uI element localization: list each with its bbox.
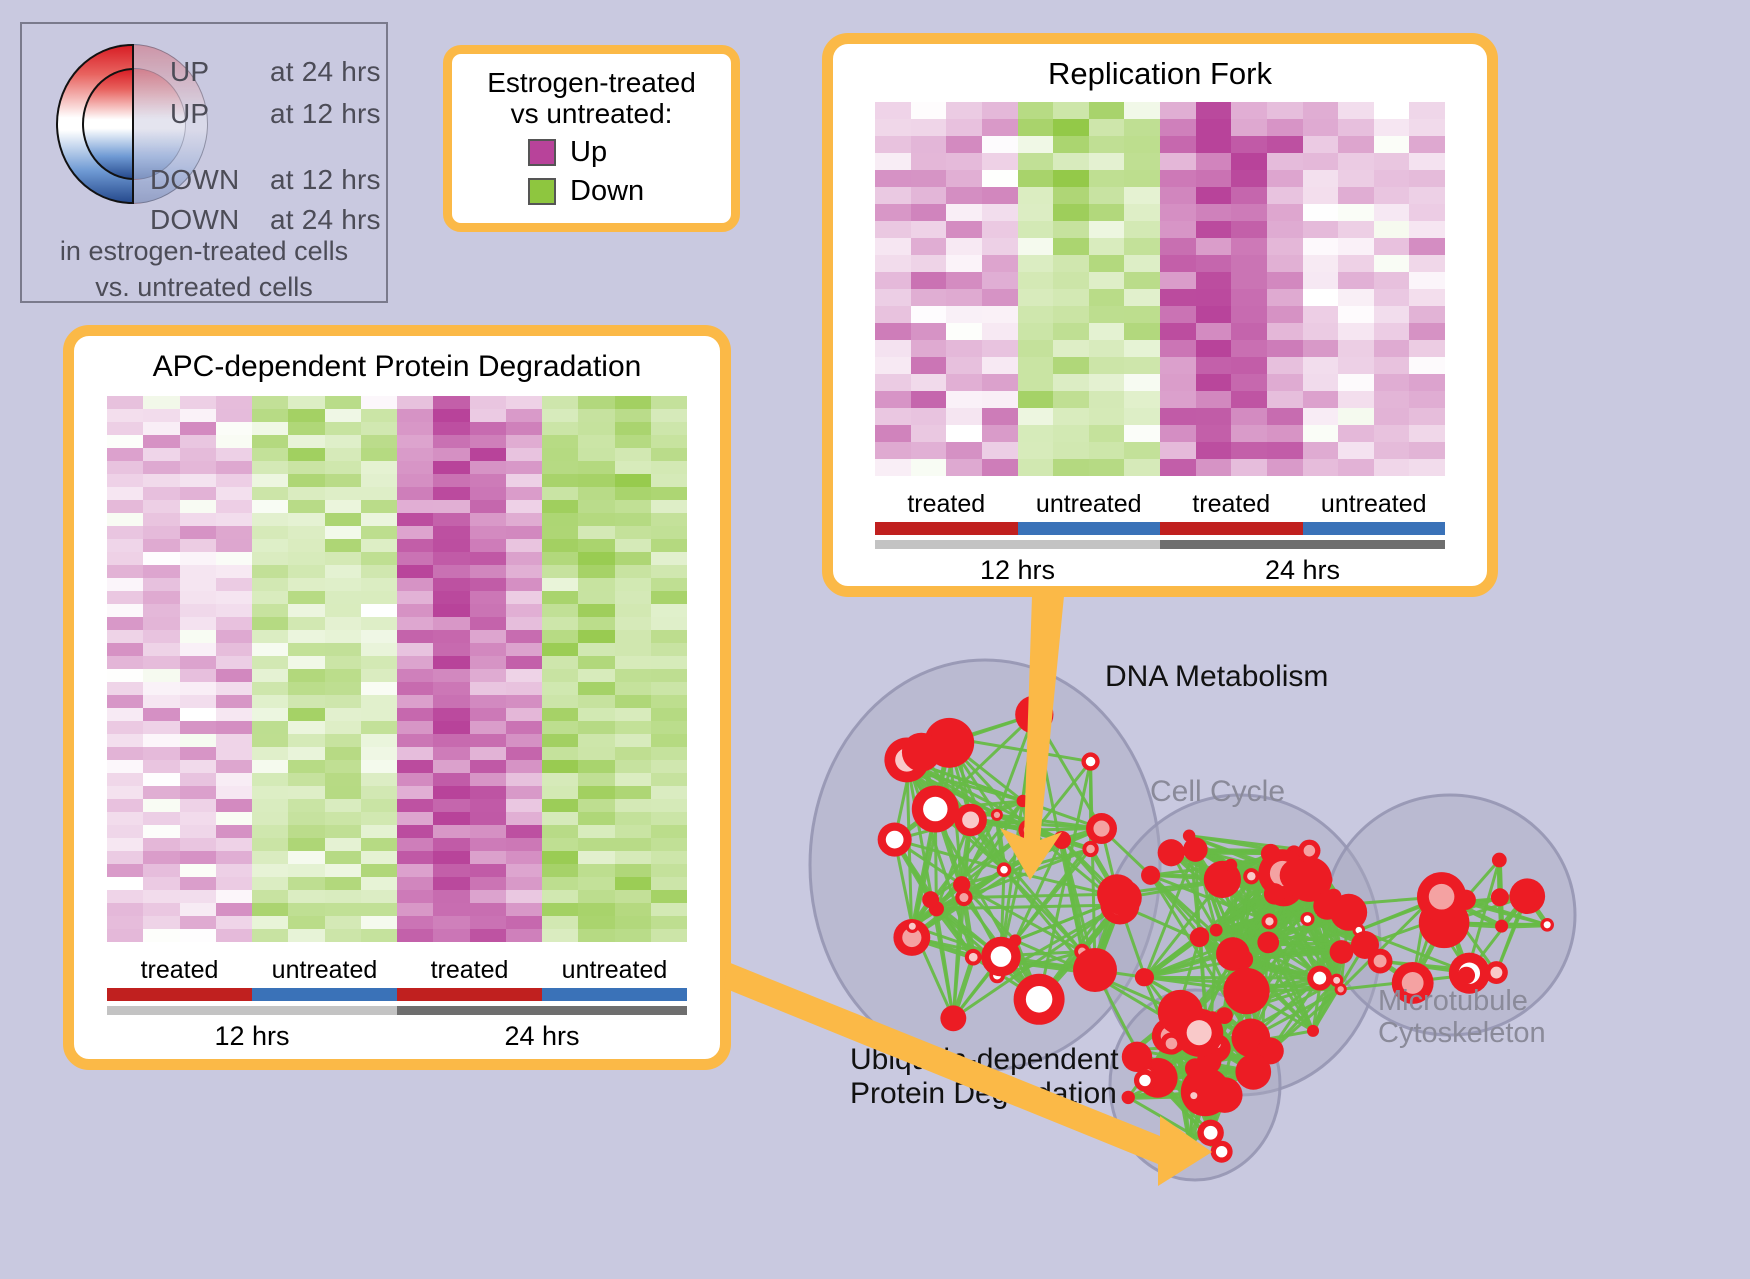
network-node[interactable] xyxy=(878,823,912,857)
network-node[interactable] xyxy=(940,1005,966,1031)
network-node[interactable] xyxy=(1417,872,1466,921)
network-node[interactable] xyxy=(1243,868,1259,884)
heatmap-cell xyxy=(397,617,433,630)
heatmap-cell xyxy=(433,825,469,838)
heatmap-cell xyxy=(107,513,143,526)
heatmap-cell xyxy=(911,289,947,306)
heatmap-cell xyxy=(433,851,469,864)
heatmap-cell xyxy=(288,721,324,734)
heatmap-cell xyxy=(1374,221,1410,238)
heatmap-cell xyxy=(1338,289,1374,306)
heatmap-cell xyxy=(397,552,433,565)
heatmap-cell xyxy=(542,838,578,851)
heatmap-cell xyxy=(1303,187,1339,204)
heatmap-cell xyxy=(143,747,179,760)
network-node[interactable] xyxy=(1261,913,1277,929)
heatmap-cell xyxy=(143,539,179,552)
heatmap-cell xyxy=(1160,391,1196,408)
network-node[interactable] xyxy=(1122,1091,1135,1104)
heatmap-cell xyxy=(216,708,252,721)
heatmap-cell xyxy=(325,435,361,448)
node-outer-ring xyxy=(1264,883,1285,904)
heatmap-cell xyxy=(1267,153,1303,170)
heatmap-cell xyxy=(542,760,578,773)
heatmap-cell xyxy=(361,422,397,435)
heatmap-cell xyxy=(252,825,288,838)
heatmap-cell xyxy=(252,903,288,916)
heatmap-cell xyxy=(1053,238,1089,255)
network-node[interactable] xyxy=(1351,931,1379,959)
heatmap-cell xyxy=(1231,102,1267,119)
heatmap-cell xyxy=(216,890,252,903)
cluster-label-dna-metabolism: DNA Metabolism xyxy=(1105,660,1328,694)
legend-state-down-24: DOWN xyxy=(150,204,239,236)
heatmap-cell xyxy=(542,565,578,578)
heatmap-cell xyxy=(1231,374,1267,391)
network-node[interactable] xyxy=(1330,974,1343,987)
heatmap-cell xyxy=(361,864,397,877)
network-node[interactable] xyxy=(1073,948,1117,992)
heatmap-cell xyxy=(1409,204,1445,221)
heatmap-cell xyxy=(1053,459,1089,476)
heatmap-cell xyxy=(361,890,397,903)
heatmap-cell xyxy=(1124,255,1160,272)
heatmap-cell xyxy=(361,669,397,682)
heatmap-cell xyxy=(1089,221,1125,238)
network-node[interactable] xyxy=(1136,968,1154,986)
heatmap-cell xyxy=(143,695,179,708)
network-node[interactable] xyxy=(1300,912,1314,926)
heatmap-cell xyxy=(1409,289,1445,306)
time-label-12hrs: 12 hrs xyxy=(107,1021,397,1052)
node-inner-core xyxy=(1333,977,1340,984)
cluster-label-cell-cycle: Cell Cycle xyxy=(1150,775,1285,809)
heatmap-cell xyxy=(288,578,324,591)
heatmap-cell xyxy=(361,630,397,643)
heatmap-cell xyxy=(107,461,143,474)
heatmap-cell xyxy=(288,916,324,929)
heatmap-cell xyxy=(143,708,179,721)
network-node[interactable] xyxy=(912,786,959,833)
heatmap-cell xyxy=(325,851,361,864)
heatmap-cell xyxy=(1124,374,1160,391)
heatmap-cell xyxy=(397,760,433,773)
heatmap-cell xyxy=(506,877,542,890)
network-node[interactable] xyxy=(1211,1141,1233,1163)
heatmap-cell xyxy=(107,448,143,461)
heatmap-cell xyxy=(542,578,578,591)
heatmap-cell xyxy=(252,643,288,656)
heatmap-cell xyxy=(252,461,288,474)
network-node[interactable] xyxy=(1307,1025,1319,1037)
heatmap-cell xyxy=(216,864,252,877)
network-node[interactable] xyxy=(1086,813,1117,844)
heatmap-cell xyxy=(911,391,947,408)
heatmap-cell xyxy=(506,552,542,565)
heatmap-cell xyxy=(288,708,324,721)
heatmap-cell xyxy=(325,825,361,838)
heatmap-cell xyxy=(946,425,982,442)
heatmap-cell xyxy=(1374,238,1410,255)
heatmap-cell xyxy=(651,786,687,799)
node-outer-ring xyxy=(1122,1091,1135,1104)
heatmap-cell xyxy=(651,513,687,526)
heatmap-cell xyxy=(288,461,324,474)
heatmap-cell xyxy=(288,695,324,708)
heatmap-cell xyxy=(216,591,252,604)
heatmap-cell xyxy=(1409,153,1445,170)
heatmap-cell xyxy=(542,695,578,708)
heatmap-cell xyxy=(651,851,687,864)
heatmap-cell xyxy=(1160,272,1196,289)
heatmap-cell xyxy=(397,604,433,617)
network-node[interactable] xyxy=(1082,841,1098,857)
heatmap-cell xyxy=(1231,204,1267,221)
heatmap-cell xyxy=(325,487,361,500)
heatmap-cell xyxy=(1089,119,1125,136)
heatmap-cell xyxy=(911,119,947,136)
heatmap-cell xyxy=(651,435,687,448)
heatmap-cell xyxy=(578,890,614,903)
heatmap-cell xyxy=(1338,153,1374,170)
heatmap-cell xyxy=(143,929,179,942)
network-node[interactable] xyxy=(1185,1058,1205,1078)
heatmap-cell xyxy=(361,396,397,409)
heatmap-cell xyxy=(1160,323,1196,340)
down-label: Down xyxy=(570,175,644,208)
heatmap-cell xyxy=(875,323,911,340)
heatmap-cell xyxy=(615,617,651,630)
network-node[interactable] xyxy=(1158,839,1185,866)
heatmap-cell xyxy=(433,929,469,942)
heatmap-cell xyxy=(1374,170,1410,187)
network-node[interactable] xyxy=(902,733,941,772)
heatmap-cell xyxy=(397,916,433,929)
heatmap-cell xyxy=(216,422,252,435)
heatmap-cell xyxy=(288,747,324,760)
heatmap-cell xyxy=(1160,425,1196,442)
heatmap-cell xyxy=(433,513,469,526)
heatmap-cell xyxy=(1053,442,1089,459)
node-outer-ring xyxy=(1141,866,1160,885)
heatmap-cell xyxy=(1338,170,1374,187)
heatmap-cell xyxy=(288,474,324,487)
heatmap-cell xyxy=(216,773,252,786)
heatmap-cell xyxy=(651,773,687,786)
heatmap-cell xyxy=(288,890,324,903)
network-node[interactable] xyxy=(1307,966,1332,991)
heatmap-cell xyxy=(615,903,651,916)
heatmap-cell xyxy=(542,513,578,526)
heatmap-cell xyxy=(470,747,506,760)
heatmap-cell xyxy=(361,773,397,786)
heatmap-cell xyxy=(615,474,651,487)
heatmap-cell xyxy=(1089,442,1125,459)
heatmap-cell xyxy=(1053,272,1089,289)
heatmap-cell xyxy=(180,630,216,643)
heatmap-cell xyxy=(325,409,361,422)
heatmap-cell xyxy=(1196,459,1232,476)
network-node[interactable] xyxy=(991,809,1003,821)
heatmap-cell xyxy=(252,526,288,539)
heatmap-cell xyxy=(180,682,216,695)
network-node[interactable] xyxy=(1175,1009,1223,1057)
network-node[interactable] xyxy=(1210,924,1223,937)
heatmap-cell xyxy=(506,721,542,734)
heatmap-cell xyxy=(1018,459,1054,476)
heatmap-cell xyxy=(1409,340,1445,357)
node-inner-core xyxy=(1429,884,1455,910)
heatmap-cell xyxy=(216,656,252,669)
heatmap-cell xyxy=(397,773,433,786)
time-labels-replication-fork: 12 hrs 24 hrs xyxy=(875,555,1445,586)
heatmap-cell xyxy=(107,929,143,942)
network-node[interactable] xyxy=(1257,932,1279,954)
heatmap-cell xyxy=(470,461,506,474)
heatmap-cell xyxy=(1338,374,1374,391)
heatmap-cell xyxy=(143,799,179,812)
heatmap-cell xyxy=(107,422,143,435)
heatmap-cell xyxy=(180,747,216,760)
heatmap-cell xyxy=(542,409,578,422)
heatmap-cell xyxy=(361,474,397,487)
heatmap-cell xyxy=(216,539,252,552)
heatmap-cell xyxy=(143,604,179,617)
network-node[interactable] xyxy=(1192,927,1209,944)
network-node[interactable] xyxy=(1235,1054,1271,1090)
heatmap-cell xyxy=(1018,374,1054,391)
network-node[interactable] xyxy=(1018,819,1040,841)
heatmap-cell xyxy=(1409,459,1445,476)
heatmap-cell xyxy=(506,838,542,851)
heatmap-cell xyxy=(1089,102,1125,119)
heatmap-cell xyxy=(180,604,216,617)
heatmap-cell xyxy=(216,838,252,851)
heatmap-cell xyxy=(875,391,911,408)
heatmap-cell xyxy=(1089,238,1125,255)
heatmap-cell xyxy=(107,903,143,916)
heatmap-cell xyxy=(946,204,982,221)
heatmap-cell xyxy=(1160,187,1196,204)
heatmap-cell xyxy=(180,812,216,825)
heatmap-cell xyxy=(1124,221,1160,238)
heatmap-cell xyxy=(1196,306,1232,323)
updown-legend-title-line1: Estrogen-treated xyxy=(452,67,731,98)
heatmap-cell xyxy=(252,747,288,760)
heatmap-cell xyxy=(1196,255,1232,272)
network-node[interactable] xyxy=(1223,968,1269,1014)
heatmap-cell xyxy=(180,851,216,864)
heatmap-cell xyxy=(397,578,433,591)
network-node[interactable] xyxy=(1141,866,1160,885)
heatmap-cell xyxy=(1303,408,1339,425)
heatmap-cell xyxy=(1374,357,1410,374)
heatmap-cell xyxy=(361,617,397,630)
heatmap-cell xyxy=(1018,153,1054,170)
heatmap-cell xyxy=(578,851,614,864)
heatmap-cell xyxy=(216,721,252,734)
network-node[interactable] xyxy=(1183,1140,1197,1154)
heatmap-cell xyxy=(615,825,651,838)
heatmap-cell xyxy=(911,238,947,255)
legend-time-up-24: at 24 hrs xyxy=(270,56,381,88)
network-node[interactable] xyxy=(1081,752,1099,770)
heatmap-cell xyxy=(288,630,324,643)
network-node[interactable] xyxy=(1298,840,1320,862)
network-node[interactable] xyxy=(1261,844,1280,863)
heatmap-cell xyxy=(506,539,542,552)
heatmap-cell xyxy=(946,323,982,340)
heatmap-cell xyxy=(1196,425,1232,442)
network-node[interactable] xyxy=(1491,888,1509,906)
network-node[interactable] xyxy=(1495,920,1508,933)
heatmap-cell xyxy=(911,204,947,221)
heatmap-cell xyxy=(288,604,324,617)
heatmap-cell xyxy=(361,786,397,799)
heatmap-cell xyxy=(911,187,947,204)
heatmap-cell xyxy=(397,682,433,695)
heatmap-cell xyxy=(252,864,288,877)
heatmap-cell xyxy=(107,721,143,734)
heatmap-cell xyxy=(288,669,324,682)
heatmap-cell xyxy=(946,187,982,204)
heatmap-cell xyxy=(1160,136,1196,153)
heatmap-cell xyxy=(180,474,216,487)
heatmap-cell xyxy=(578,734,614,747)
heatmap-cell xyxy=(107,682,143,695)
heatmap-cell xyxy=(1374,323,1410,340)
heatmap-cell xyxy=(615,656,651,669)
heatmap-cell xyxy=(1409,357,1445,374)
heatmap-cell xyxy=(1160,102,1196,119)
heatmap-cell xyxy=(911,459,947,476)
node-outer-ring xyxy=(1492,853,1507,868)
network-node[interactable] xyxy=(1015,695,1053,733)
network-node[interactable] xyxy=(1330,940,1354,964)
heatmap-cell xyxy=(542,539,578,552)
network-node[interactable] xyxy=(1233,949,1253,969)
network-node[interactable] xyxy=(922,891,939,908)
heatmap-cell xyxy=(1231,255,1267,272)
network-node[interactable] xyxy=(1183,830,1195,842)
group-label-treated-12: treated xyxy=(875,490,1018,519)
heatmap-cell xyxy=(216,630,252,643)
heatmap-cell xyxy=(1053,119,1089,136)
network-node[interactable] xyxy=(1458,967,1475,984)
heatmap-cell xyxy=(252,812,288,825)
heatmap-cell xyxy=(1124,340,1160,357)
heatmap-cell xyxy=(506,747,542,760)
time-label-24hrs: 24 hrs xyxy=(397,1021,687,1052)
network-node[interactable] xyxy=(1280,859,1312,891)
network-node[interactable] xyxy=(954,804,987,837)
heatmap-cell xyxy=(1409,187,1445,204)
heatmap-replication-fork xyxy=(875,102,1445,476)
heatmap-cell xyxy=(1231,459,1267,476)
network-node[interactable] xyxy=(965,949,982,966)
network-node[interactable] xyxy=(1540,918,1554,932)
heatmap-cell xyxy=(1196,221,1232,238)
network-node[interactable] xyxy=(1492,853,1507,868)
network-node[interactable] xyxy=(1224,859,1237,872)
network-node[interactable] xyxy=(906,920,919,933)
heatmap-cell xyxy=(982,255,1018,272)
heatmap-cell xyxy=(361,656,397,669)
heatmap-cell xyxy=(361,929,397,942)
heatmap-cell xyxy=(506,630,542,643)
heatmap-cell xyxy=(1409,408,1445,425)
heatmap-cell xyxy=(361,526,397,539)
network-node[interactable] xyxy=(1264,883,1285,904)
heatmap-cell xyxy=(288,526,324,539)
heatmap-cell xyxy=(180,838,216,851)
heatmap-cell xyxy=(615,695,651,708)
node-outer-ring xyxy=(1330,940,1354,964)
network-node[interactable] xyxy=(1134,1069,1156,1091)
heatmap-cell xyxy=(325,656,361,669)
heatmap-cell xyxy=(180,929,216,942)
network-node[interactable] xyxy=(997,862,1012,877)
network-node[interactable] xyxy=(981,937,1021,977)
node-outer-ring xyxy=(1136,968,1154,986)
heatmap-cell xyxy=(1089,459,1125,476)
heatmap-cell xyxy=(325,734,361,747)
heatmap-cell xyxy=(615,760,651,773)
network-node[interactable] xyxy=(1053,831,1071,849)
node-inner-core xyxy=(1216,1146,1227,1157)
heatmap-cell xyxy=(143,851,179,864)
heatmap-cell xyxy=(1303,391,1339,408)
heatmap-cell xyxy=(325,682,361,695)
heatmap-cell xyxy=(506,409,542,422)
heatmap-cell xyxy=(143,669,179,682)
heatmap-cell xyxy=(470,643,506,656)
node-outer-ring xyxy=(1210,924,1223,937)
heatmap-cell xyxy=(1018,187,1054,204)
heatmap-cell xyxy=(1303,102,1339,119)
network-node[interactable] xyxy=(1187,1089,1200,1102)
network-node[interactable] xyxy=(1513,886,1537,910)
node-inner-core xyxy=(886,831,904,849)
panel-apc-dependent-protein-degradation: APC-dependent Protein Degradation treate… xyxy=(63,325,731,1070)
heatmap-cell xyxy=(542,604,578,617)
network-node[interactable] xyxy=(955,889,972,906)
heatmap-cell xyxy=(1124,323,1160,340)
legend-time-down-24: at 24 hrs xyxy=(270,204,381,236)
heatmap-cell xyxy=(542,487,578,500)
heatmap-cell xyxy=(1338,119,1374,136)
heatmap-cell xyxy=(615,682,651,695)
heatmap-cell xyxy=(252,565,288,578)
heatmap-cell xyxy=(506,500,542,513)
heatmap-cell xyxy=(1409,221,1445,238)
heatmap-cell xyxy=(107,565,143,578)
heatmap-cell xyxy=(1338,408,1374,425)
heatmap-cell xyxy=(216,487,252,500)
heatmap-cell xyxy=(982,119,1018,136)
network-node[interactable] xyxy=(1017,795,1029,807)
heatmap-cell xyxy=(180,799,216,812)
heatmap-cell xyxy=(397,513,433,526)
network-node[interactable] xyxy=(1105,880,1141,916)
heatmap-cell xyxy=(615,864,651,877)
heatmap-cell xyxy=(397,435,433,448)
heatmap-cell xyxy=(143,864,179,877)
heatmap-cell xyxy=(1053,136,1089,153)
heatmap-cell xyxy=(982,170,1018,187)
heatmap-cell xyxy=(506,474,542,487)
network-node[interactable] xyxy=(1014,974,1065,1025)
